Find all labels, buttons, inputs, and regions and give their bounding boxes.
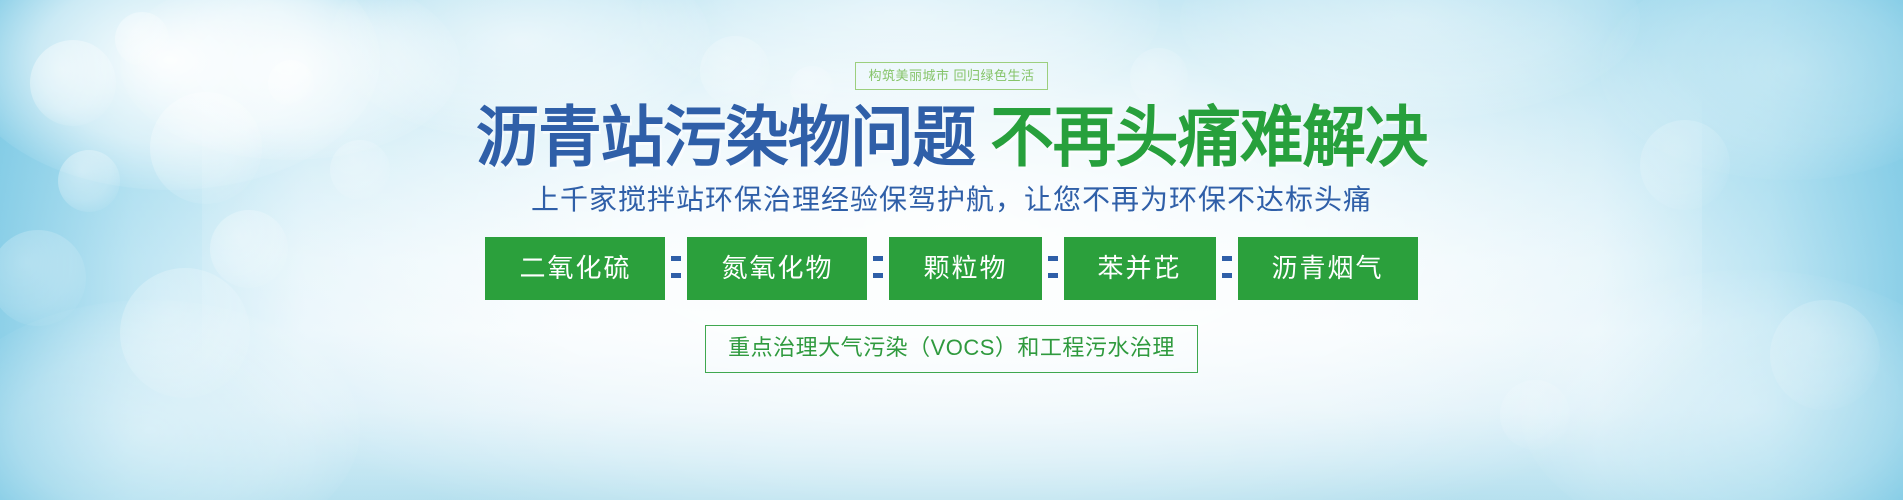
pill-separator-dots [1042, 239, 1064, 297]
pill-separator-dots [867, 239, 889, 297]
banner-content: 构筑美丽城市 回归绿色生活 沥青站污染物问题不再头痛难解决 上千家搅拌站环保治理… [0, 0, 1903, 500]
banner-subtitle: 上千家搅拌站环保治理经验保驾护航，让您不再为环保不达标头痛 [531, 183, 1372, 217]
banner-tagline: 构筑美丽城市 回归绿色生活 [855, 62, 1047, 90]
pill-button-benzopyrene[interactable]: 苯并芘 [1064, 237, 1216, 300]
page-title: 沥青站污染物问题不再头痛难解决 [476, 104, 1427, 171]
headline-green-segment: 不再头痛难解决 [990, 99, 1427, 176]
pill-button-sulfur-dioxide[interactable]: 二氧化硫 [485, 237, 665, 300]
pill-separator-dots [665, 239, 687, 297]
pill-button-particulate[interactable]: 颗粒物 [889, 237, 1041, 300]
headline-blue-segment: 沥青站污染物问题 [476, 99, 975, 176]
pill-separator-dots [1216, 239, 1238, 297]
banner-footnote: 重点治理大气污染（VOCS）和工程污水治理 [705, 325, 1198, 373]
pollutant-pill-row: 二氧化硫 氮氧化物 颗粒物 苯并芘 沥青烟气 [485, 237, 1417, 300]
pill-button-asphalt-fumes[interactable]: 沥青烟气 [1238, 237, 1418, 300]
hero-banner: 构筑美丽城市 回归绿色生活 沥青站污染物问题不再头痛难解决 上千家搅拌站环保治理… [0, 0, 1903, 500]
pill-button-nitrogen-oxides[interactable]: 氮氧化物 [687, 237, 867, 300]
